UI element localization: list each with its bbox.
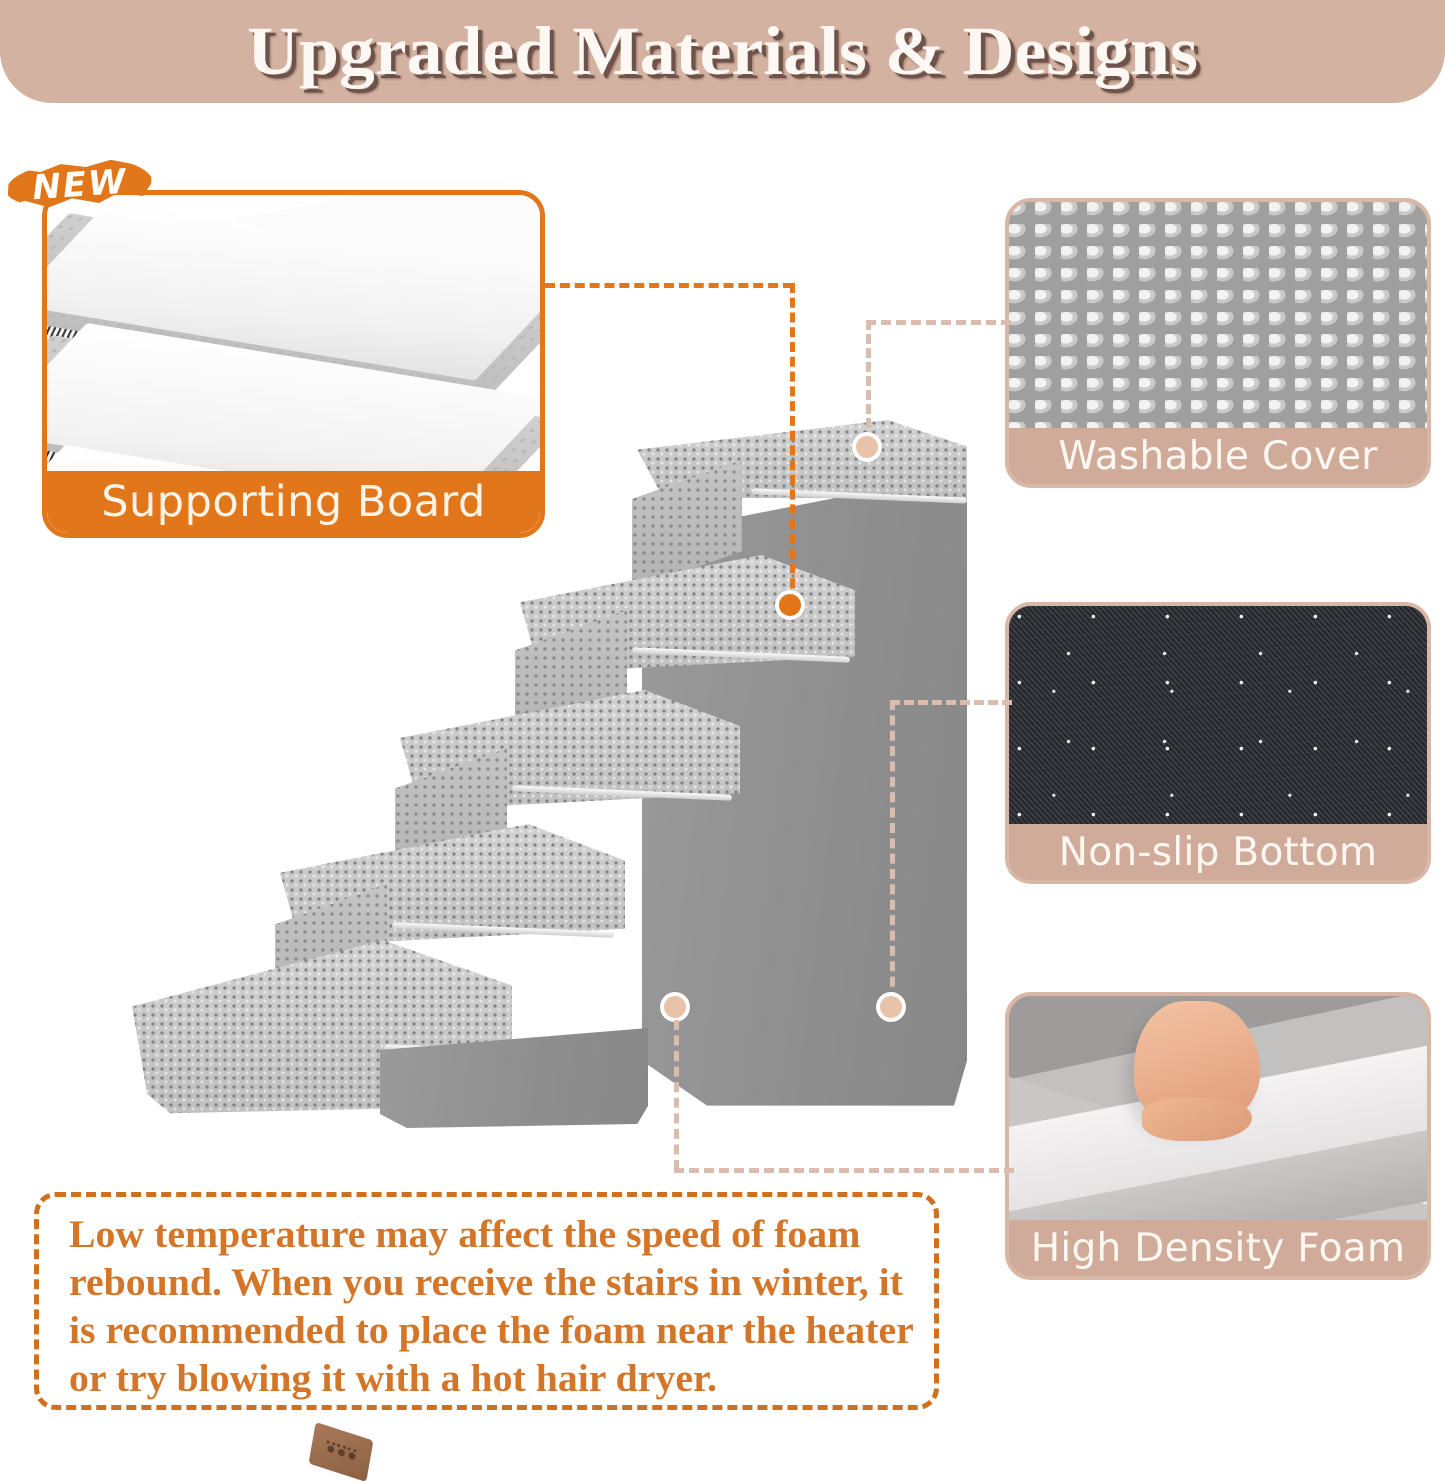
winter-foam-note-text: Low temperature may affect the speed of … — [69, 1211, 921, 1403]
washable-cover-label-text: Washable Cover — [1058, 434, 1377, 479]
paw-icon — [337, 1447, 345, 1456]
paw-icon — [348, 1451, 356, 1460]
page-title: Upgraded Materials & Designs — [0, 0, 1445, 103]
non-slip-bottom-label: Non-slip Bottom — [1009, 824, 1427, 880]
feature-panel-washable-cover: Washable Cover — [1005, 198, 1431, 488]
connector-dot-washable-cover — [852, 432, 882, 462]
pet-stairs-illustration — [112, 400, 992, 1130]
new-badge: NEW — [4, 152, 156, 218]
washable-cover-label: Washable Cover — [1009, 428, 1427, 484]
paw-icon — [326, 1444, 334, 1453]
high-density-foam-label: High Density Foam — [1009, 1220, 1427, 1276]
feature-panel-non-slip-bottom: Non-slip Bottom — [1005, 602, 1431, 884]
connector-dot-non-slip — [876, 992, 906, 1022]
connector-dot-high-density-foam — [660, 992, 690, 1022]
connector-foam-vertical — [674, 1020, 679, 1170]
new-badge-text: NEW — [4, 152, 156, 218]
hand-pressing-foam-icon — [1009, 996, 1427, 1228]
fabric-texture-icon — [1009, 202, 1427, 434]
connector-non-slip-vertical — [890, 700, 895, 1002]
high-density-foam-label-text: High Density Foam — [1031, 1226, 1406, 1271]
connector-washable-cover-vertical — [866, 320, 871, 442]
connector-supporting-board-horizontal — [545, 283, 793, 288]
feature-panel-high-density-foam: High Density Foam — [1005, 992, 1431, 1280]
connector-washable-cover-horizontal — [866, 320, 1011, 325]
winter-foam-note: Low temperature may affect the speed of … — [34, 1192, 939, 1410]
header-banner: Upgraded Materials & Designs — [0, 0, 1445, 103]
connector-foam-horizontal — [674, 1168, 1014, 1173]
paw-print-leather-tag — [309, 1422, 374, 1482]
connector-dot-supporting-board — [775, 590, 805, 620]
non-slip-bottom-label-text: Non-slip Bottom — [1059, 830, 1378, 875]
connector-supporting-board-vertical — [790, 283, 795, 603]
connector-non-slip-horizontal — [890, 700, 1012, 705]
hand-icon — [1134, 1001, 1259, 1126]
nonslip-fabric-icon — [1009, 606, 1427, 832]
